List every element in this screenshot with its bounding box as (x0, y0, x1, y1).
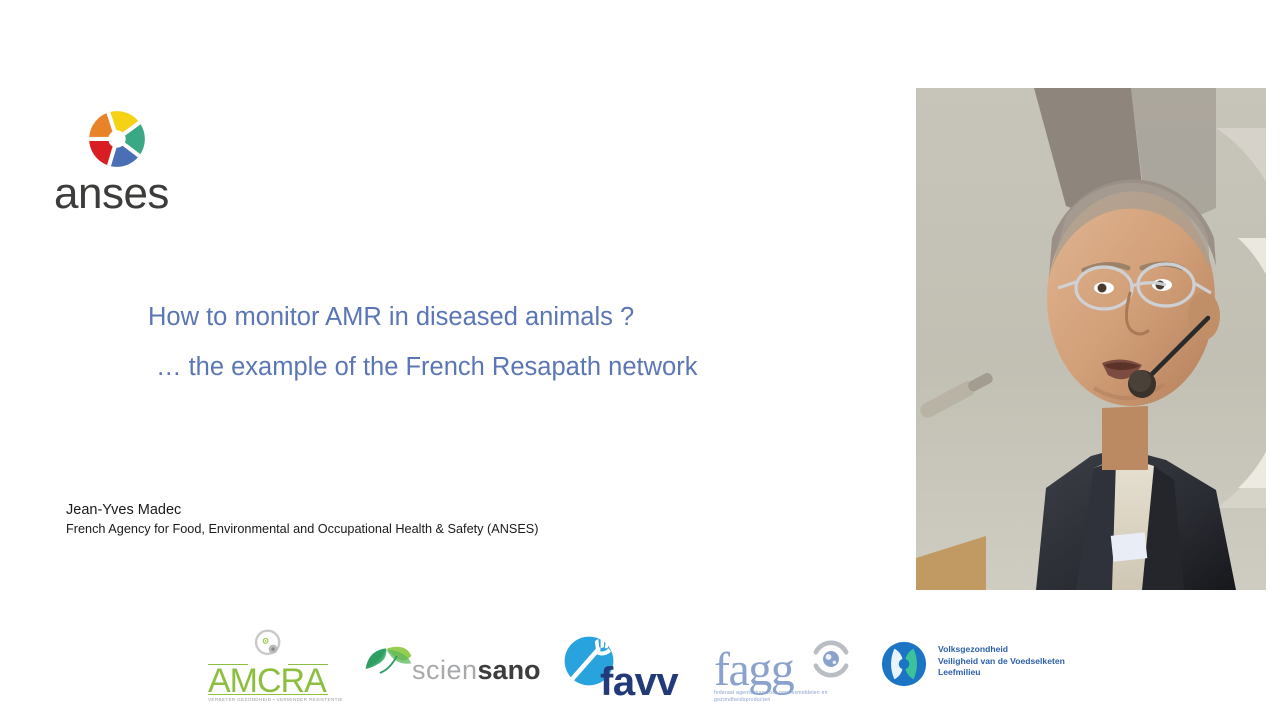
amcra-tagline: VERBETER GEZONDHEID • VERMINDER RESISTEN… (208, 697, 328, 702)
fps-health-text-line-3: Leefmilieu (938, 667, 1065, 679)
sciensano-wordmark: sciensano (412, 657, 541, 684)
amcra-logo: AMCRA VERBETER GEZONDHEID • VERMINDER RE… (208, 628, 328, 706)
anses-logo: anses (54, 110, 234, 220)
slide-title-block: How to monitor AMR in diseased animals ?… (148, 292, 868, 392)
fps-health-logo: Volksgezondheid Veiligheid van de Voedse… (880, 640, 1090, 696)
speaker-video-frame (916, 88, 1266, 590)
fagg-logo: fagg federaal agentschap voor geneesmidd… (714, 632, 874, 704)
author-block: Jean-Yves Madec French Agency for Food, … (66, 500, 539, 539)
presentation-slide: anses How to monitor AMR in diseased ani… (0, 0, 1280, 720)
favv-logo: favv (560, 632, 685, 700)
anses-wordmark: anses (54, 172, 169, 216)
sciensano-logo: sciensano (360, 640, 525, 692)
sciensano-wordmark-light: scien (412, 655, 478, 685)
favv-wordmark: favv (600, 662, 678, 702)
fagg-wordmark: fagg (714, 646, 793, 694)
fps-health-text: Volksgezondheid Veiligheid van de Voedse… (938, 644, 1065, 679)
fps-health-emblem-icon (880, 640, 928, 688)
fagg-arc-icon (810, 638, 852, 680)
sciensano-leaf-icon (360, 640, 416, 682)
author-affiliation: French Agency for Food, Environmental an… (66, 520, 539, 539)
fagg-subtitle-line-2: gezondheidsproducten (714, 697, 771, 703)
amcra-wordmark: AMCRA (208, 664, 326, 698)
amcra-petri-dish-icon (252, 628, 286, 662)
amcra-rule-bottom (208, 694, 328, 695)
sciensano-wordmark-bold: sano (478, 655, 541, 685)
anses-petal-circle-icon (88, 110, 146, 168)
slide-title-line-2: … the example of the French Resapath net… (156, 342, 868, 392)
author-name: Jean-Yves Madec (66, 500, 539, 520)
fagg-subtitle-line-1: federaal agentschap voor geneesmiddelen … (714, 690, 828, 696)
footer-logo-strip: AMCRA VERBETER GEZONDHEID • VERMINDER RE… (0, 612, 1280, 720)
fps-health-text-line-2: Veiligheid van de Voedselketen (938, 656, 1065, 668)
slide-title-line-1: How to monitor AMR in diseased animals ? (148, 292, 868, 342)
fps-health-text-line-1: Volksgezondheid (938, 644, 1065, 656)
